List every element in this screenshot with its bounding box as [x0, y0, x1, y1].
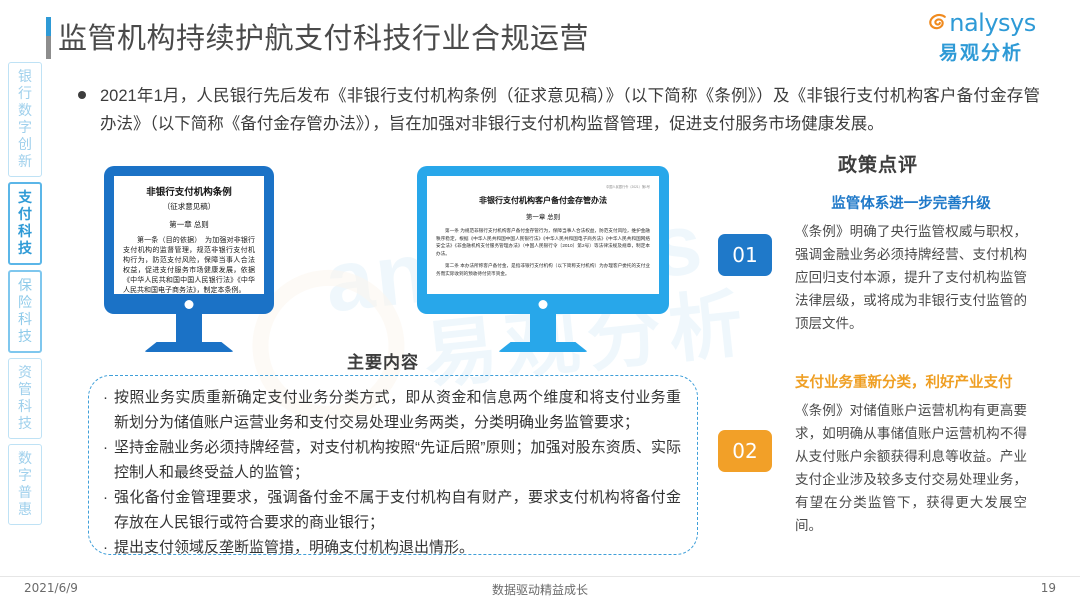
doc1-title: 非银行支付机构条例 — [123, 184, 255, 198]
monitor-2-frame: 中国人民银行令〔2021〕第1号 非银行支付机构客户备付金存管办法 第一章 总则… — [417, 166, 669, 314]
status-badge-02: 02 — [718, 430, 772, 472]
commentary-1-heading: 监管体系进一步完善升级 — [795, 193, 1027, 215]
list-item-text: 强化备付金管理要求，强调备付金不属于支付机构自有财产，要求支付机构将备付金存放在… — [114, 485, 681, 535]
monitor-2-base — [498, 342, 588, 352]
analysys-swirl-icon — [926, 12, 948, 34]
monitor-1-base — [144, 342, 234, 352]
monitor-1-indicator-icon — [185, 300, 194, 309]
sidebar-item-char: 科 — [10, 311, 40, 328]
doc2-stamp: 中国人民银行令〔2021〕第1号 — [436, 184, 650, 189]
footer-slogan: 数据驱动精益成长 — [0, 581, 1080, 598]
sidebar-item-char: 技 — [9, 415, 41, 432]
list-item-text: 按照业务实质重新确定支付业务分类方式，即从资金和信息两个维度和将支付业务重新划分… — [114, 385, 681, 435]
page-title: 监管机构持续护航支付科技行业合规运营 — [58, 15, 589, 57]
main-content-heading: 主要内容 — [347, 348, 419, 373]
monitor-2-stand — [530, 314, 556, 342]
list-item-text: 提出支付领域反垄断监管措，明确支付机构退出情形。 — [114, 535, 681, 560]
monitor-reserve-fund-rules: 中国人民银行令〔2021〕第1号 非银行支付机构客户备付金存管办法 第一章 总则… — [417, 166, 669, 352]
list-item: · 提出支付领域反垄断监管措，明确支付机构退出情形。 — [103, 535, 681, 560]
list-item-text: 坚持金融业务必须持牌经营，对支付机构按照“先证后照”原则；加强对股东资质、实际控… — [114, 435, 681, 485]
sidebar-nav[interactable]: 银行数字创新 支付科技 保险科技 资管科技 数字普惠 — [8, 62, 44, 530]
sidebar-item-char: 险 — [10, 294, 40, 311]
sidebar-item-char: 付 — [10, 206, 40, 223]
monitor-2-indicator-icon — [539, 300, 548, 309]
list-item: · 按照业务实质重新确定支付业务分类方式，即从资金和信息两个维度和将支付业务重新… — [103, 385, 681, 435]
sidebar-item-char: 创 — [9, 136, 41, 153]
list-item: · 坚持金融业务必须持牌经营，对支付机构按照“先证后照”原则；加强对股东资质、实… — [103, 435, 681, 485]
lead-bullet-icon — [78, 91, 86, 99]
sidebar-item-char: 数 — [9, 450, 41, 467]
sidebar-item-char: 普 — [9, 484, 41, 501]
slide-canvas: analysys 易观分析 监管机构持续护航支付科技行业合规运营 nalysys… — [0, 0, 1080, 608]
sidebar-item-insurance-tech[interactable]: 保险科技 — [8, 270, 42, 353]
commentary-title: 政策点评 — [838, 150, 918, 177]
doc2-chapter: 第一章 总则 — [436, 211, 650, 221]
sidebar-item-payment-tech[interactable]: 支付科技 — [8, 182, 42, 265]
sidebar-item-char: 银 — [9, 68, 41, 85]
logo-wordmark: nalysys — [949, 12, 1036, 34]
list-item: · 强化备付金管理要求，强调备付金不属于支付机构自有财产，要求支付机构将备付金存… — [103, 485, 681, 535]
sidebar-item-char: 科 — [9, 398, 41, 415]
list-bullet-icon: · — [103, 535, 114, 560]
sidebar-item-char: 科 — [10, 223, 40, 240]
sidebar-item-char: 字 — [9, 467, 41, 484]
sidebar-item-char: 字 — [9, 119, 41, 136]
main-content-box: · 按照业务实质重新确定支付业务分类方式，即从资金和信息两个维度和将支付业务重新… — [88, 375, 698, 555]
sidebar-item-bank-digital-innovation[interactable]: 银行数字创新 — [8, 62, 42, 177]
monitor-1-screen: 非银行支付机构条例 （征求意见稿） 第一章 总则 第一条（目的依据） 为加强对非… — [114, 176, 264, 294]
sidebar-item-char: 保 — [10, 277, 40, 294]
brand-logo: nalysys 易观分析 — [916, 10, 1046, 65]
status-badge-01: 01 — [718, 234, 772, 276]
doc2-title: 非银行支付机构客户备付金存管办法 — [436, 195, 650, 206]
commentary-block-2: 支付业务重新分类，利好产业支付 《条例》对储值账户运营机构有更高要求，如明确从事… — [795, 372, 1027, 537]
sidebar-item-asset-management-tech[interactable]: 资管科技 — [8, 358, 42, 439]
list-bullet-icon: · — [103, 435, 114, 485]
commentary-2-heading: 支付业务重新分类，利好产业支付 — [795, 372, 1027, 394]
sidebar-item-char: 数 — [9, 102, 41, 119]
title-accent-bar — [46, 17, 51, 59]
lead-paragraph: 2021年1月，人民银行先后发布《非银行支付机构条例（征求意见稿）》（以下简称《… — [100, 82, 1040, 138]
logo-chinese-name: 易观分析 — [916, 38, 1046, 65]
sidebar-item-char: 新 — [9, 153, 41, 170]
sidebar-item-char: 支 — [10, 189, 40, 206]
commentary-1-body: 《条例》明确了央行监管权威与职权，强调金融业务必须持牌经营、支付机构应回归支付本… — [795, 220, 1027, 335]
footer-divider — [0, 576, 1080, 577]
doc2-paragraph-1: 第一条 为规范非银行支付机构客户备付金存管行为，保障当事人合法权益，防范支付风险… — [436, 227, 650, 257]
sidebar-item-char: 技 — [10, 240, 40, 257]
list-bullet-icon: · — [103, 485, 114, 535]
sidebar-item-char: 技 — [10, 328, 40, 345]
sidebar-item-char: 行 — [9, 85, 41, 102]
doc1-paragraph: 第一条（目的依据） 为加强对非银行支付机构的监督管理，规范非银行支付机构行为，防… — [123, 236, 255, 294]
doc1-chapter: 第一章 总则 — [123, 219, 255, 230]
list-bullet-icon: · — [103, 385, 114, 435]
sidebar-item-digital-inclusive-finance[interactable]: 数字普惠 — [8, 444, 42, 525]
sidebar-item-char: 管 — [9, 381, 41, 398]
monitor-2-screen: 中国人民银行令〔2021〕第1号 非银行支付机构客户备付金存管办法 第一章 总则… — [427, 176, 659, 294]
commentary-2-body: 《条例》对储值账户运营机构有更高要求，如明确从事储值账户运营机构不得从支付账户余… — [795, 399, 1027, 537]
commentary-block-1: 监管体系进一步完善升级 《条例》明确了央行监管权威与职权，强调金融业务必须持牌经… — [795, 193, 1027, 335]
doc2-paragraph-2: 第二条 本办法所称客户备付金，是指非银行支付机构（以下简称支付机构）为办理客户委… — [436, 262, 650, 277]
monitor-regulation-draft: 非银行支付机构条例 （征求意见稿） 第一章 总则 第一条（目的依据） 为加强对非… — [104, 166, 274, 352]
footer-page-number: 19 — [1041, 581, 1056, 595]
sidebar-item-char: 资 — [9, 364, 41, 381]
monitor-1-frame: 非银行支付机构条例 （征求意见稿） 第一章 总则 第一条（目的依据） 为加强对非… — [104, 166, 274, 314]
monitor-1-stand — [176, 314, 202, 342]
doc1-subtitle: （征求意见稿） — [123, 201, 255, 212]
sidebar-item-char: 惠 — [9, 501, 41, 518]
